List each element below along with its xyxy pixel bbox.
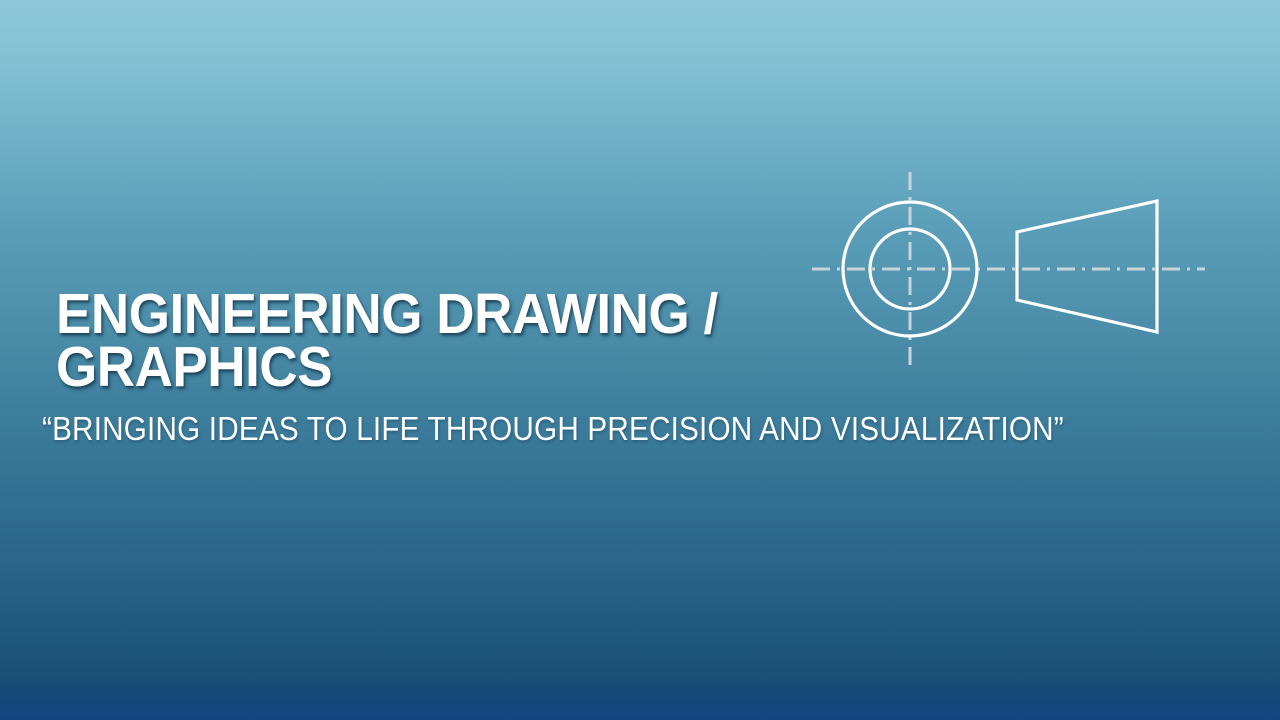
drawing-svg (795, 155, 1220, 390)
title-block: Engineering Drawing / Graphics “Bringing… (56, 288, 836, 448)
title-slide: Engineering Drawing / Graphics “Bringing… (0, 0, 1280, 720)
engineering-drawing-illustration (795, 155, 1220, 390)
slide-subtitle: “Bringing ideas to life through precisio… (42, 394, 757, 448)
page-title: Engineering Drawing / Graphics (56, 288, 781, 394)
trapezoid-side-view (1017, 201, 1157, 332)
